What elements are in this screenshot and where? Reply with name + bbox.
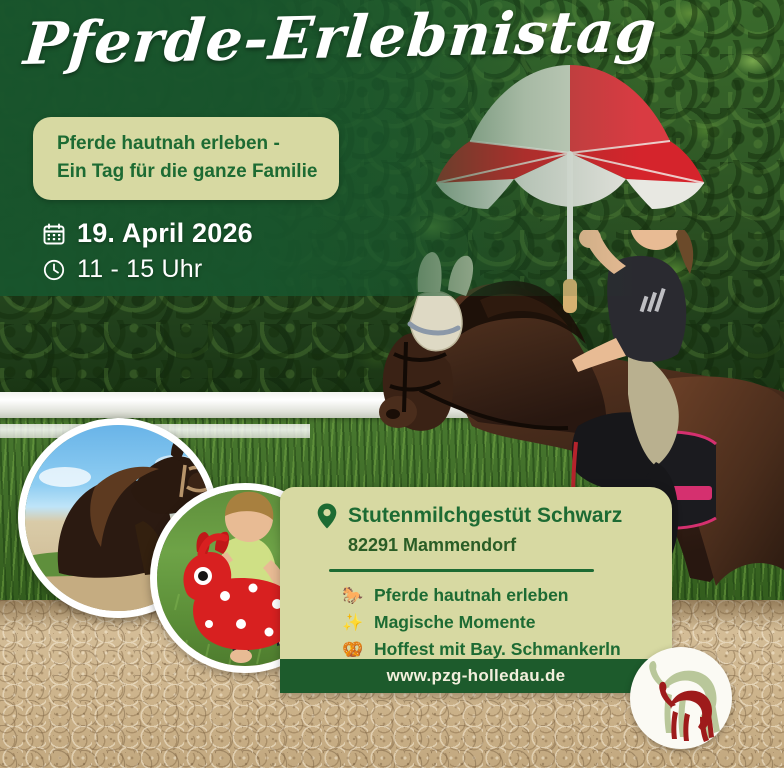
event-time-row: 11 - 15 Uhr	[42, 255, 253, 284]
clock-icon	[42, 258, 66, 282]
venue-name: Stutenmilchgestüt Schwarz	[348, 504, 622, 528]
list-item: 🐎 Pferde hautnah erleben	[342, 585, 672, 606]
list-item: ✨ Magische Momente	[342, 612, 672, 633]
website-bar[interactable]: www.pzg-holledau.de	[280, 659, 672, 693]
feature-label: Hoffest mit Bay. Schmankerln	[374, 639, 621, 660]
tagline-badge: Pferde hautnah erleben - Ein Tag für die…	[33, 117, 339, 200]
event-date: 19. April 2026	[77, 218, 253, 249]
horse-icon: 🐎	[342, 587, 364, 604]
list-item: 🥨 Hoffest mit Bay. Schmankerln	[342, 639, 672, 660]
venue-row: Stutenmilchgestüt Schwarz	[280, 487, 672, 530]
info-card: Stutenmilchgestüt Schwarz 82291 Mammendo…	[280, 487, 672, 692]
calendar-icon	[42, 222, 66, 246]
pretzel-icon: 🥨	[342, 641, 364, 658]
tagline-line-2: Ein Tag für die ganze Familie	[57, 158, 317, 186]
header-overlay-panel: Pferde-Erlebnistag Pferde hautnah erlebe…	[0, 0, 640, 296]
event-date-row: 19. April 2026	[42, 218, 253, 249]
mare-and-foal-logo-icon	[630, 647, 732, 749]
sparkles-icon: ✨	[342, 614, 364, 631]
feature-label: Pferde hautnah erleben	[374, 585, 569, 606]
poster-canvas: Pferde-Erlebnistag Pferde hautnah erlebe…	[0, 0, 784, 768]
website-url[interactable]: www.pzg-holledau.de	[387, 666, 566, 686]
page-title: Pferde-Erlebnistag	[21, 2, 587, 75]
feature-label: Magische Momente	[374, 612, 535, 633]
tagline-line-1: Pferde hautnah erleben -	[57, 130, 317, 158]
event-time: 11 - 15 Uhr	[77, 255, 202, 284]
feature-list: 🐎 Pferde hautnah erleben ✨ Magische Mome…	[280, 572, 672, 660]
pzg-holledau-logo	[630, 647, 732, 749]
venue-address: 82291 Mammendorf	[280, 530, 672, 556]
map-pin-icon	[316, 502, 338, 530]
event-meta: 19. April 2026 11 - 15 Uhr	[42, 218, 253, 290]
